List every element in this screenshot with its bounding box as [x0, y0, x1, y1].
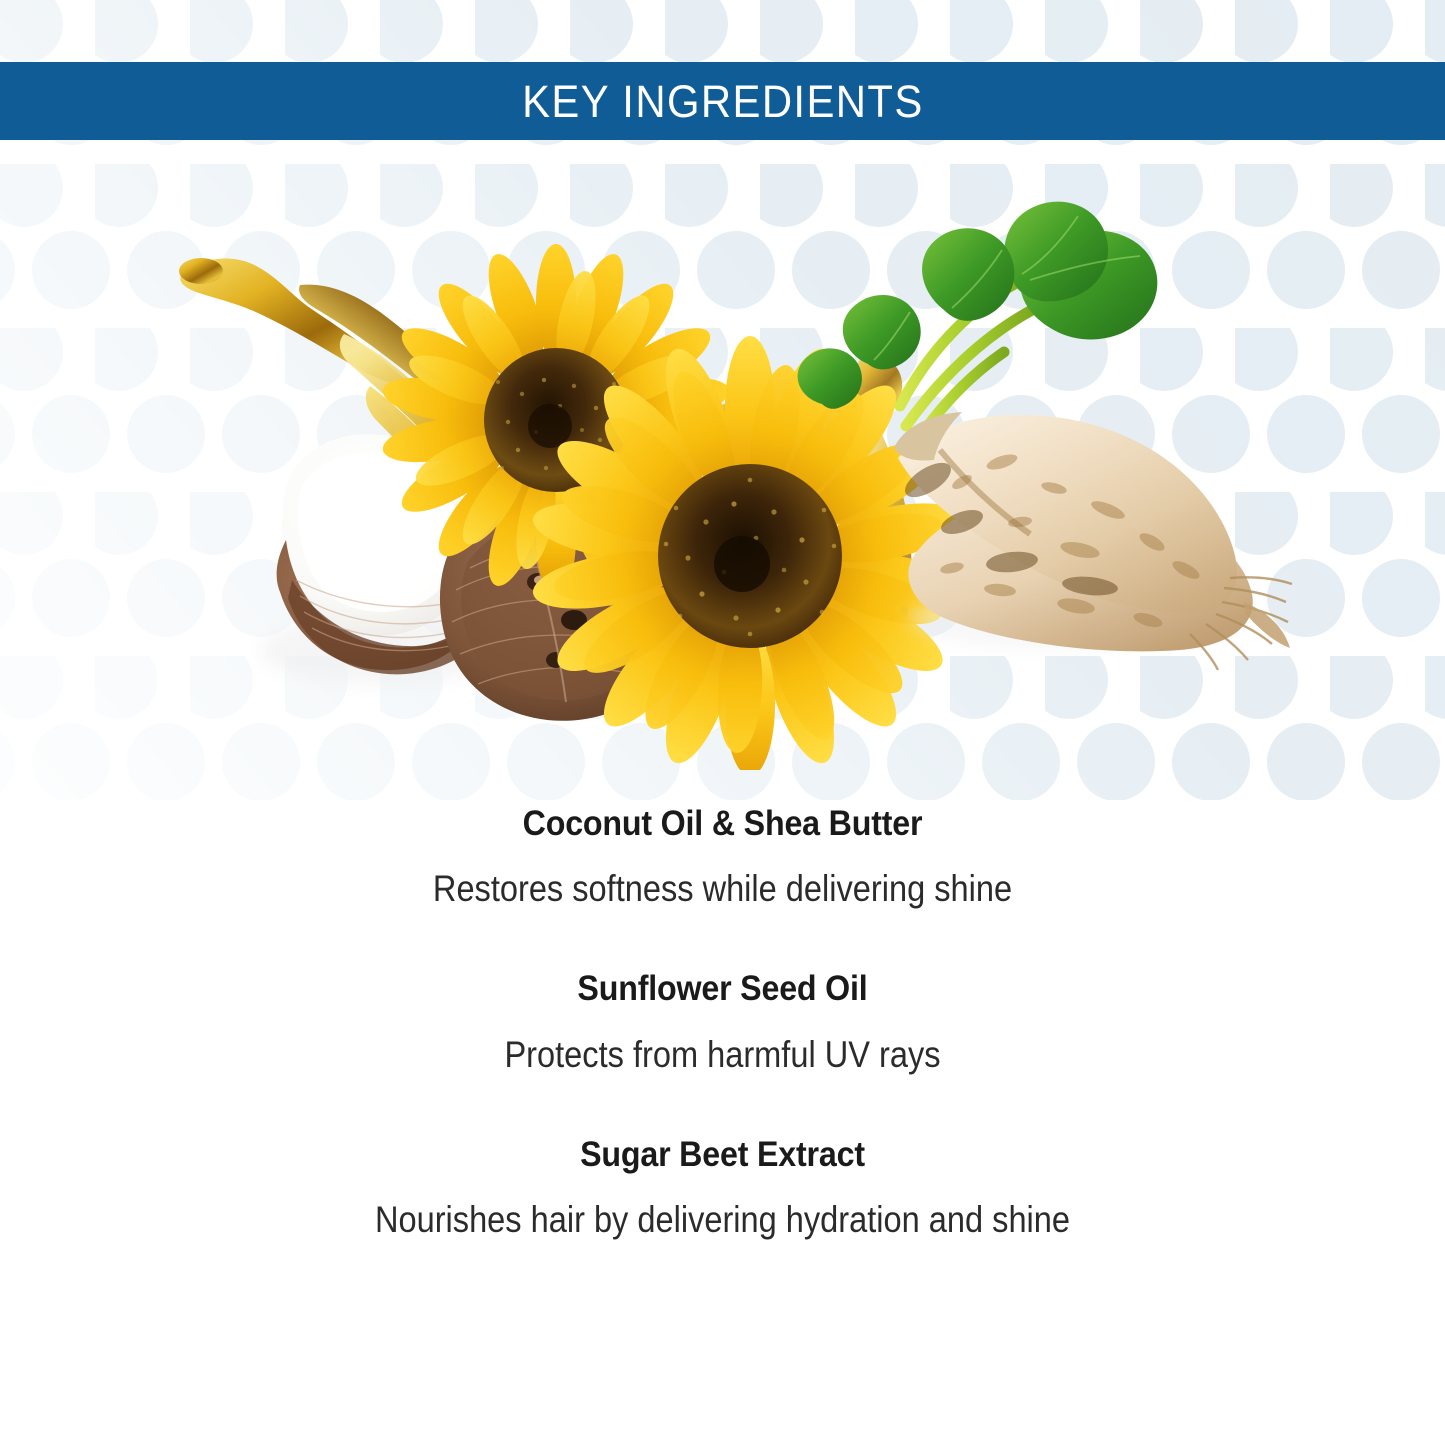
page-title: KEY INGREDIENTS [522, 79, 924, 124]
ingredient-description: Restores softness while delivering shine [87, 865, 1359, 913]
ingredient-name: Sugar Beet Extract [58, 1131, 1387, 1178]
ingredient-name: Coconut Oil & Shea Butter [58, 800, 1387, 847]
ingredient-item-coconut-oil-shea-butter: Coconut Oil & Shea Butter Restores softn… [0, 800, 1445, 913]
ingredients-hero-image [0, 150, 1445, 770]
ingredient-description: Nourishes hair by delivering hydration a… [87, 1196, 1359, 1244]
key-ingredients-panel: KEY INGREDIENTS [0, 0, 1445, 1445]
ingredient-item-sunflower-seed-oil: Sunflower Seed Oil Protects from harmful… [0, 965, 1445, 1078]
ingredients-list: Coconut Oil & Shea Butter Restores softn… [0, 800, 1445, 1244]
ingredient-description: Protects from harmful UV rays [87, 1031, 1359, 1079]
key-ingredients-banner: KEY INGREDIENTS [0, 62, 1445, 140]
ingredient-name: Sunflower Seed Oil [58, 965, 1387, 1012]
ingredient-item-sugar-beet-extract: Sugar Beet Extract Nourishes hair by del… [0, 1131, 1445, 1244]
